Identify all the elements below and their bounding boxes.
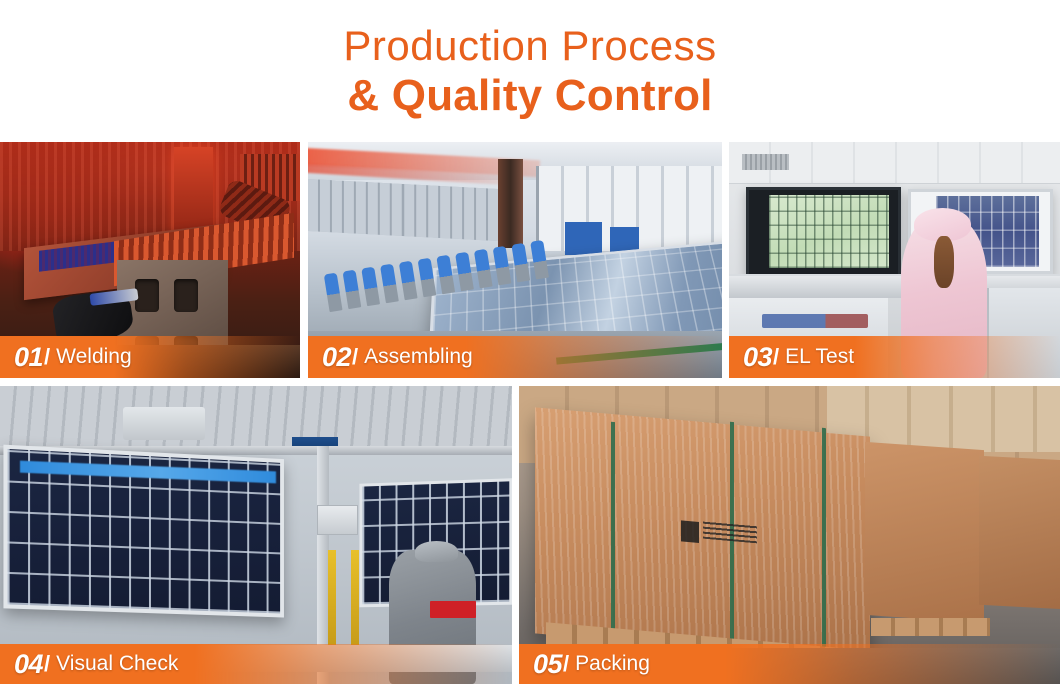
united-energy-logo (430, 601, 476, 619)
worker-cap (415, 541, 459, 562)
air-duct-unit (123, 407, 205, 440)
page-header: Production Process & Quality Control (0, 0, 1060, 142)
wooden-pallet (871, 618, 990, 636)
packing-photo (519, 386, 1060, 684)
frame-clamp (455, 252, 474, 291)
side-equipment-cabinet (987, 288, 1060, 378)
process-panel-grid: 01 / Welding (0, 142, 1060, 684)
welding-fixture-slot (135, 279, 159, 312)
safety-bollard (351, 550, 359, 645)
frame-clamp (361, 267, 380, 306)
line-equipment-rack (308, 179, 498, 241)
frame-clamp (436, 255, 455, 294)
wrapped-crate-secondary (865, 441, 984, 622)
ceiling-vent (742, 154, 788, 171)
crate-strap (822, 428, 826, 661)
page-title-line-1: Production Process (343, 22, 716, 69)
support-column (498, 159, 523, 249)
frame-clamp (417, 258, 436, 297)
page-title-line-2: & Quality Control (347, 71, 712, 120)
frame-clamp (473, 249, 492, 288)
welding-fixture-slot (174, 279, 198, 312)
welding-machine-base (0, 345, 300, 378)
process-panel-el-test[interactable]: 03 / EL Test (729, 142, 1060, 378)
factory-roof-structure (0, 386, 512, 452)
el-image-display (769, 195, 889, 269)
frame-clamp (530, 240, 549, 279)
el-monitor-left (746, 187, 902, 277)
assembling-photo (308, 142, 722, 378)
frame-clamp (323, 272, 342, 311)
frame-clamp (380, 264, 399, 303)
warehouse-floor (519, 648, 1060, 684)
welding-photo (0, 142, 300, 378)
frame-clamp (342, 270, 361, 309)
crate-strap (611, 422, 615, 655)
process-panel-welding[interactable]: 01 / Welding (0, 142, 300, 378)
cabinet-branding-text (762, 314, 868, 328)
process-panel-visual-check[interactable]: 04 / Visual Check (0, 386, 512, 684)
operator-ponytail (934, 236, 954, 288)
visual-check-photo (0, 386, 512, 684)
safety-bollard (328, 550, 336, 645)
wrapped-crate-tertiary (979, 455, 1060, 609)
control-panel-box (317, 505, 358, 535)
conveyor-rail (0, 645, 512, 672)
process-panel-assembling[interactable]: 02 / Assembling (308, 142, 722, 378)
frame-clamp (511, 243, 530, 282)
el-test-photo (729, 142, 1060, 378)
frame-clamp (492, 246, 511, 285)
process-panel-packing[interactable]: 05 / Packing (519, 386, 1060, 684)
frame-clamp (398, 261, 417, 300)
equipment-cabinet (729, 298, 888, 378)
